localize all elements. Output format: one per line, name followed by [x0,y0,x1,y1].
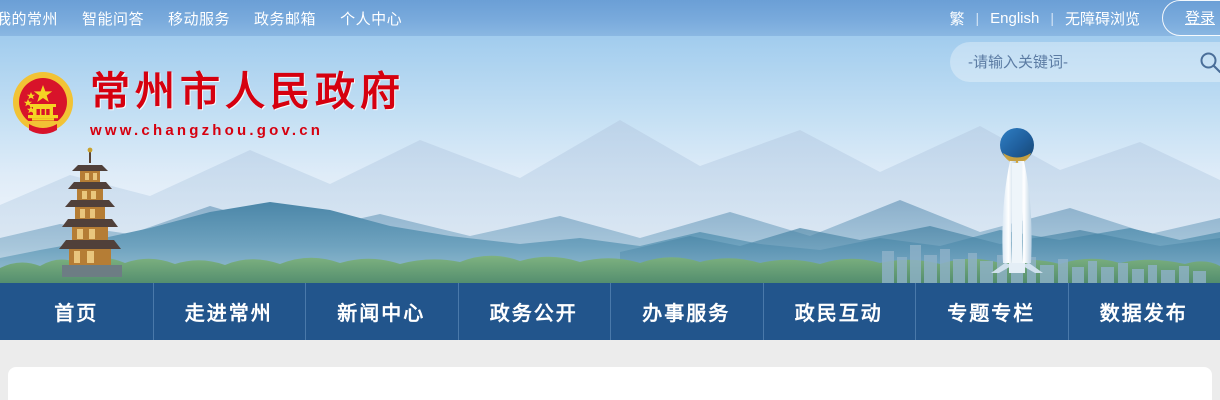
topnav-mobile-service[interactable]: 移动服务 [168,8,230,29]
topnav-smart-qa[interactable]: 智能问答 [82,8,144,29]
tool-separator-1: | [975,10,979,26]
topnav-my-changzhou[interactable]: 我的常州 [0,8,58,29]
logo-text: 常州市人民政府 www.changzhou.gov.cn [90,71,405,138]
lang-traditional-link[interactable]: 繁 [949,8,964,29]
main-navigation: 首页 走进常州 新闻中心 政务公开 办事服务 政民互动 专题专栏 数据发布 [0,283,1220,340]
topnav-personal-center[interactable]: 个人中心 [340,8,402,29]
site-logo[interactable]: 常州市人民政府 www.changzhou.gov.cn [10,62,405,148]
accessibility-link[interactable]: 无障碍浏览 [1065,8,1140,29]
nav-data-release[interactable]: 数据发布 [1068,283,1220,340]
page-title: 常州市人民政府 [90,71,405,114]
login-button[interactable]: 登录 [1162,0,1220,36]
city-skyline [880,237,1220,283]
nav-special-topics[interactable]: 专题专栏 [915,283,1068,340]
top-tools: 繁 | English | 无障碍浏览 登录 [949,0,1220,36]
content-panel [8,367,1212,400]
nav-gov-disclosure[interactable]: 政务公开 [458,283,611,340]
topnav-gov-mail[interactable]: 政务邮箱 [254,8,316,29]
site-url: www.changzhou.gov.cn [90,122,405,139]
nav-news-center[interactable]: 新闻中心 [305,283,458,340]
nav-services[interactable]: 办事服务 [610,283,763,340]
nav-about-changzhou[interactable]: 走进常州 [153,283,306,340]
nav-interaction[interactable]: 政民互动 [763,283,916,340]
site-banner: 我的常州 智能问答 移动服务 政务邮箱 个人中心 繁 | English | 无… [0,0,1220,283]
nav-home[interactable]: 首页 [0,283,153,340]
search-input[interactable] [968,54,1192,71]
tv-tower-icon [985,123,1049,275]
top-nav: 我的常州 智能问答 移动服务 政务邮箱 个人中心 [0,8,402,29]
national-emblem-icon [10,62,76,148]
search-area [950,42,1220,82]
tool-separator-2: | [1050,10,1054,26]
pagoda-icon [56,147,128,277]
lang-english-link[interactable]: English [990,10,1039,27]
search-icon[interactable] [1198,50,1220,74]
search-box[interactable] [950,42,1220,82]
top-utility-bar: 我的常州 智能问答 移动服务 政务邮箱 个人中心 繁 | English | 无… [0,0,1220,36]
